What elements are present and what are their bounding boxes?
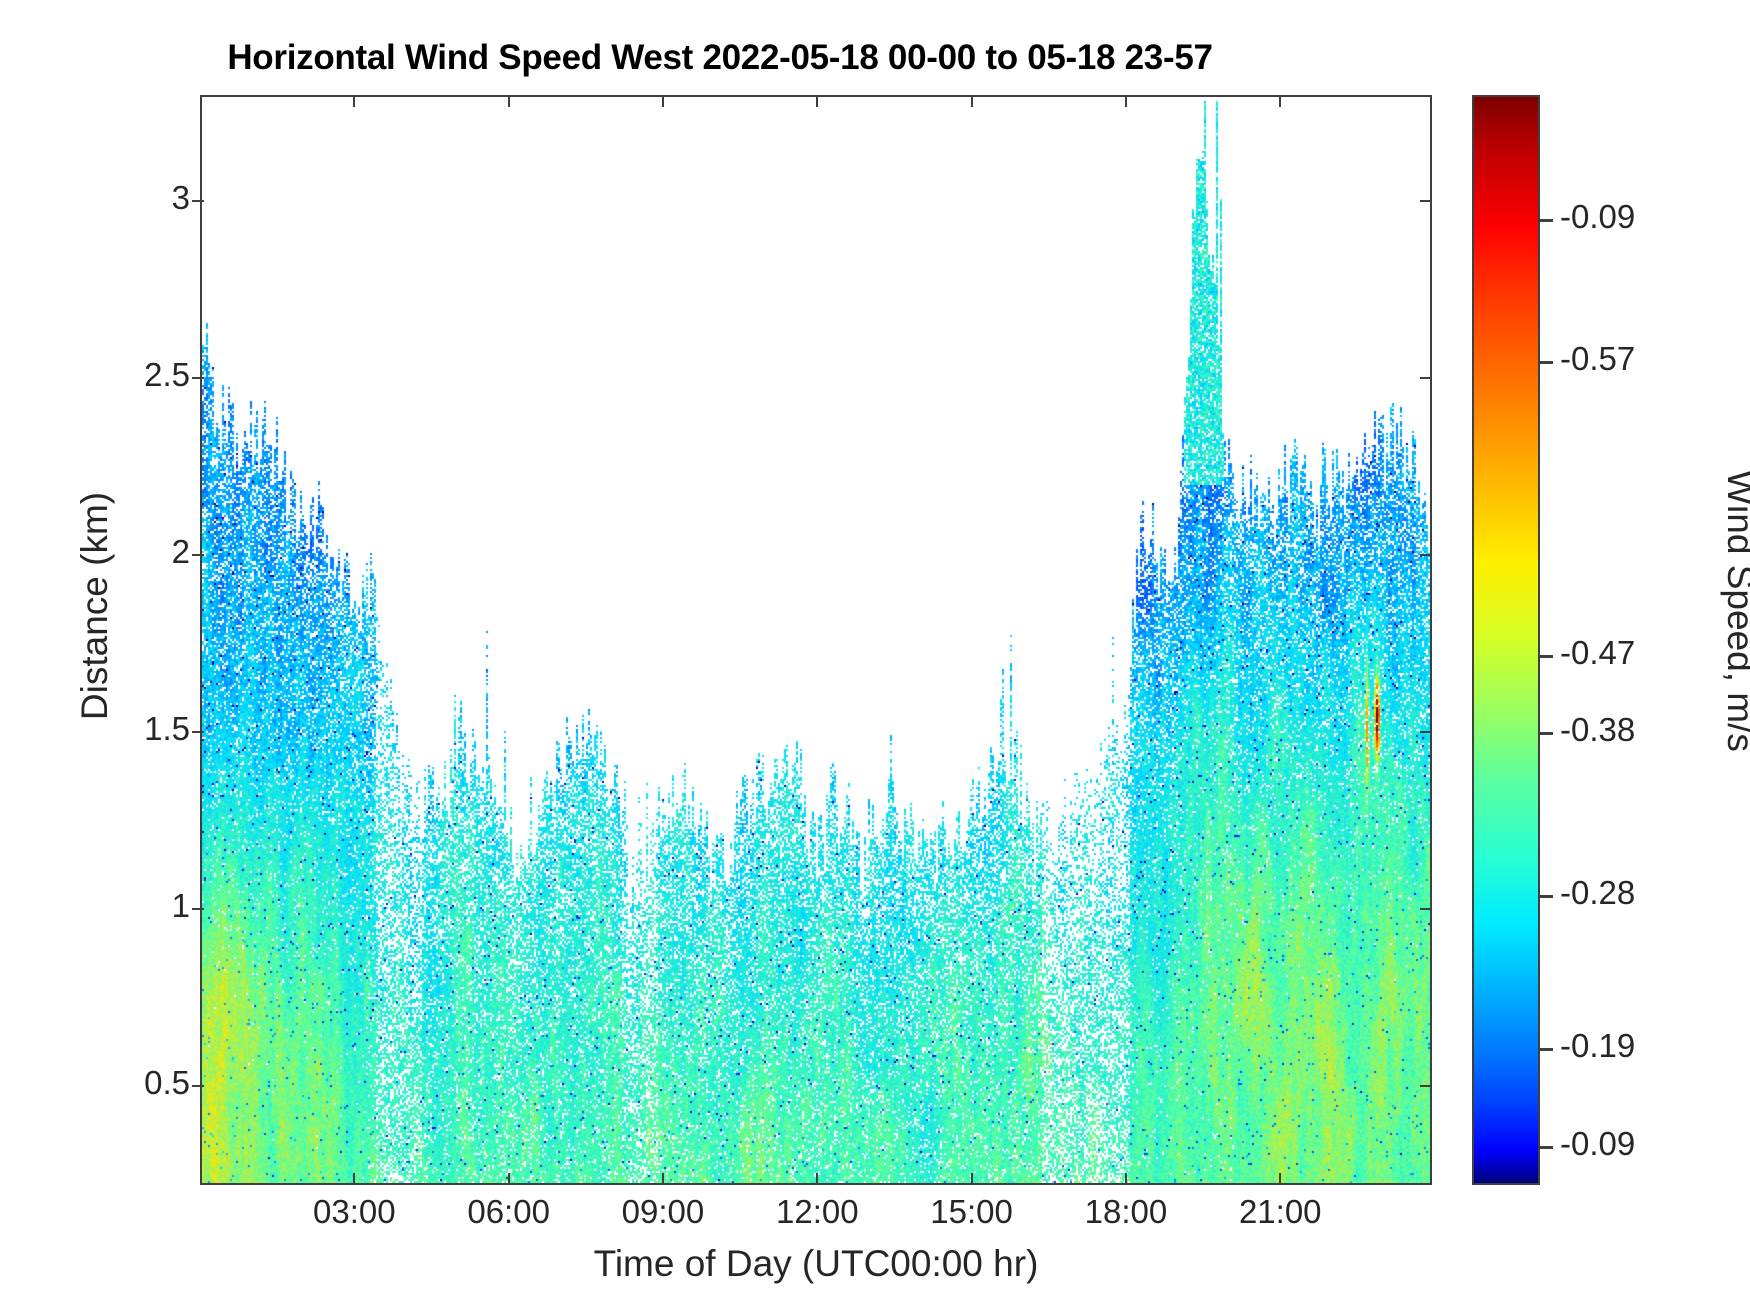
figure-canvas: Horizontal Wind Speed West 2022-05-18 00… [0, 0, 1750, 1313]
y-tick-mark [192, 200, 204, 202]
colorbar-tick-mark [1540, 1146, 1553, 1149]
x-tick-mark [971, 1173, 973, 1185]
x-tick-mark [1279, 95, 1281, 107]
colorbar-tick-mark [1540, 732, 1553, 735]
colorbar-tick-mark [1540, 219, 1553, 222]
y-tick-mark [192, 731, 204, 733]
x-tick-mark [1125, 95, 1127, 107]
y-tick-mark [1420, 908, 1432, 910]
colorbar-tick-label: -0.38 [1560, 711, 1635, 749]
y-tick-mark [1420, 377, 1432, 379]
y-tick-label: 2.5 [0, 356, 190, 394]
colorbar-tick-label: -0.28 [1560, 874, 1635, 912]
colorbar [1472, 95, 1540, 1185]
colorbar-tick-label: -0.19 [1560, 1027, 1635, 1065]
y-tick-mark [1420, 1085, 1432, 1087]
y-tick-mark [192, 554, 204, 556]
x-tick-mark [1279, 1173, 1281, 1185]
colorbar-tick-label: -0.09 [1560, 198, 1635, 236]
x-tick-mark [816, 95, 818, 107]
y-axis-label: Distance (km) [74, 406, 116, 806]
y-tick-mark [1420, 554, 1432, 556]
x-tick-mark [508, 95, 510, 107]
y-tick-mark [192, 908, 204, 910]
colorbar-tick-mark [1540, 895, 1553, 898]
plot-axes [200, 95, 1432, 1185]
colorbar-tick-label: -0.57 [1560, 340, 1635, 378]
colorbar-tick-mark [1540, 1048, 1553, 1051]
colorbar-label: Wind Speed, m/s [1719, 401, 1750, 821]
colorbar-tick-label: -0.47 [1560, 634, 1635, 672]
x-tick-mark [971, 95, 973, 107]
x-tick-mark [662, 95, 664, 107]
x-axis-label: Time of Day (UTC00:00 hr) [200, 1243, 1432, 1285]
y-tick-label: 0.5 [0, 1064, 190, 1102]
x-tick-mark [353, 95, 355, 107]
x-tick-mark [508, 1173, 510, 1185]
y-tick-mark [1420, 200, 1432, 202]
y-tick-mark [192, 1085, 204, 1087]
y-tick-label: 3 [0, 179, 190, 217]
colorbar-tick-mark [1540, 361, 1553, 364]
x-tick-label: 21:00 [1180, 1193, 1380, 1231]
page-title: Horizontal Wind Speed West 2022-05-18 00… [155, 38, 1285, 78]
x-tick-mark [816, 1173, 818, 1185]
x-tick-mark [1125, 1173, 1127, 1185]
y-tick-label: 1 [0, 887, 190, 925]
colorbar-tick-mark [1540, 655, 1553, 658]
x-tick-mark [662, 1173, 664, 1185]
y-tick-mark [1420, 731, 1432, 733]
colorbar-tick-label: -0.09 [1560, 1125, 1635, 1163]
x-tick-mark [353, 1173, 355, 1185]
colorbar-gradient [1474, 97, 1538, 1183]
y-tick-mark [192, 377, 204, 379]
wind-speed-heatmap [202, 97, 1430, 1183]
